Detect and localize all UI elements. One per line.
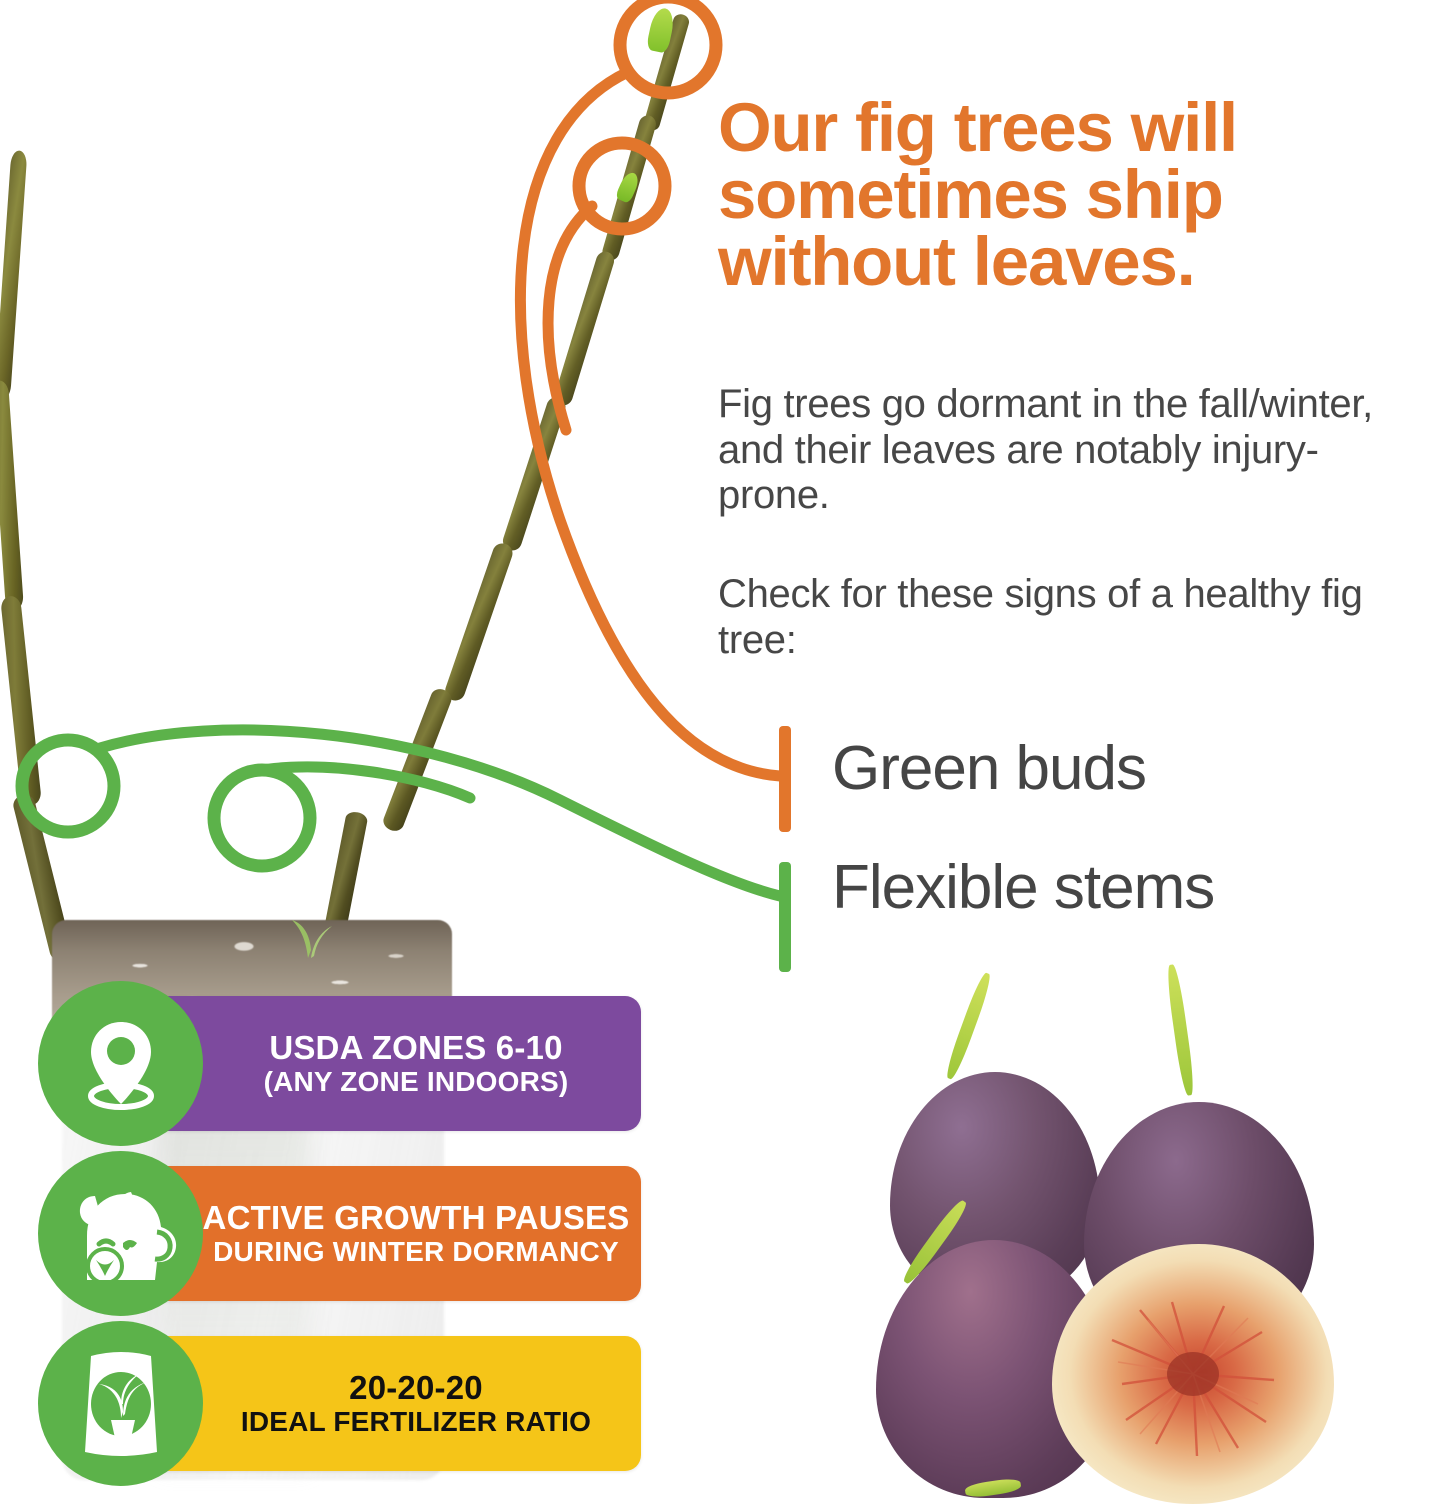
badge-line1: USDA ZONES 6-10 (269, 1030, 562, 1066)
fig-stem (1165, 964, 1196, 1097)
badge-usda-zones[interactable]: USDA ZONES 6-10 (ANY ZONE INDOORS) (38, 981, 641, 1146)
fresh-figs-photo (884, 962, 1440, 1500)
branch-segment (0, 150, 27, 401)
badge-line2: (ANY ZONE INDOORS) (264, 1066, 569, 1097)
map-pin-icon (38, 981, 203, 1146)
branch-segment (552, 249, 616, 407)
badge-line2: DURING WINTER DORMANCY (213, 1236, 619, 1267)
sign-label-flexible-stems: Flexible stems (832, 852, 1214, 923)
branch-segment (0, 595, 42, 806)
green-bracket-icon (779, 862, 791, 972)
badge-line1: 20-20-20 (349, 1370, 483, 1406)
fertilizer-bag-icon (38, 1321, 203, 1486)
badge-line1: ACTIVE GROWTH PAUSES (203, 1200, 630, 1236)
orange-bracket-icon (779, 726, 791, 832)
badge-winter-dormancy[interactable]: ACTIVE GROWTH PAUSES DURING WINTER DORMA… (38, 1151, 641, 1316)
fig-halved (1052, 1244, 1334, 1504)
body-paragraph-dormancy: Fig trees go dormant in the fall/winter,… (718, 382, 1378, 519)
badge-fertilizer-ratio[interactable]: 20-20-20 IDEAL FERTILIZER RATIO (38, 1321, 641, 1486)
infographic-canvas: Our fig trees will sometimes ship withou… (0, 0, 1447, 1500)
sign-label-green-buds: Green buds (832, 733, 1146, 804)
body-paragraph-check: Check for these signs of a healthy fig t… (718, 572, 1378, 663)
page-title: Our fig trees will sometimes ship withou… (718, 95, 1438, 296)
fig-stem (943, 971, 994, 1081)
branch-segment (500, 395, 568, 553)
branch-segment (0, 380, 24, 611)
badge-line2: IDEAL FERTILIZER RATIO (241, 1406, 591, 1437)
branch-segment (381, 686, 454, 834)
soil-sprout-icon (282, 912, 340, 960)
hibernating-bear-icon (38, 1151, 203, 1316)
branch-segment (443, 541, 516, 704)
